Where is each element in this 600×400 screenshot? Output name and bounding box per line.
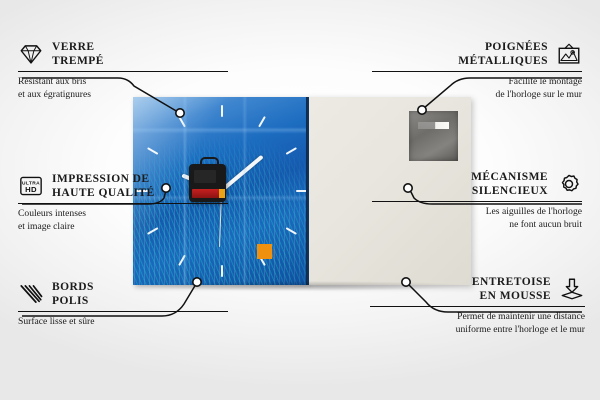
hour-tick <box>221 105 223 117</box>
infographic-canvas: VERRE TREMPÉ Résistant aux bris et aux é… <box>0 0 600 400</box>
feature-header: POIGNÉES MÉTALLIQUES <box>372 40 582 68</box>
feature-impression-haute-qualite: ultra HD IMPRESSION DE HAUTE QUALITÉ Cou… <box>18 172 228 233</box>
hour-tick <box>258 116 266 127</box>
feature-title: MÉCANISME SILENCIEUX <box>471 170 548 198</box>
feature-divider <box>372 71 582 72</box>
svg-text:HD: HD <box>25 185 37 194</box>
feature-bords-polis: BORDS POLIS Surface lisse et sûre <box>18 280 228 329</box>
feature-description: Les aiguilles de l'horloge ne font aucun… <box>372 206 582 231</box>
diamond-icon <box>18 42 44 66</box>
ultra-hd-icon: ultra HD <box>18 174 44 198</box>
feature-header: BORDS POLIS <box>18 280 228 308</box>
picture-hanger-icon <box>556 42 582 66</box>
feature-divider <box>18 311 228 312</box>
feature-divider <box>370 306 585 307</box>
feature-title: ENTRETOISE EN MOUSSE <box>472 275 551 303</box>
feature-header: MÉCANISME SILENCIEUX <box>372 170 582 198</box>
feature-description: Résistant aux bris et aux égratignures <box>18 76 228 101</box>
feature-title: POIGNÉES MÉTALLIQUES <box>458 40 548 68</box>
polished-edges-icon <box>18 282 44 306</box>
feature-title: IMPRESSION DE HAUTE QUALITÉ <box>52 172 155 200</box>
feature-description: Couleurs intenses et image claire <box>18 208 228 233</box>
feature-verre-trempe: VERRE TREMPÉ Résistant aux bris et aux é… <box>18 40 228 101</box>
feature-header: VERRE TREMPÉ <box>18 40 228 68</box>
feature-description: Facilite le montage de l'horloge sur le … <box>372 76 582 101</box>
feature-poignees-metalliques: POIGNÉES MÉTALLIQUES Facilite le montage… <box>372 40 582 101</box>
layer-arrow-icon <box>559 277 585 301</box>
feature-mecanisme-silencieux: MÉCANISME SILENCIEUX Les aiguilles de l'… <box>372 170 582 231</box>
hour-tick <box>178 255 186 266</box>
feature-header: ENTRETOISE EN MOUSSE <box>370 275 585 303</box>
hour-tick <box>286 227 297 235</box>
feature-header: ultra HD IMPRESSION DE HAUTE QUALITÉ <box>18 172 228 200</box>
feature-divider <box>18 203 228 204</box>
gear-icon <box>556 172 582 196</box>
hour-tick <box>178 116 186 127</box>
feature-description: Surface lisse et sûre <box>18 316 228 328</box>
handle-slot <box>418 122 449 129</box>
metal-handle <box>409 111 458 161</box>
feature-entretoise-en-mousse: ENTRETOISE EN MOUSSE Permet de maintenir… <box>370 275 585 336</box>
hour-tick <box>286 147 297 155</box>
hour-tick <box>147 147 158 155</box>
feature-divider <box>18 71 228 72</box>
feature-description: Permet de maintenir une distance uniform… <box>370 311 585 336</box>
feature-title: VERRE TREMPÉ <box>52 40 104 68</box>
mechanism-hanger <box>200 157 219 168</box>
hour-tick <box>221 265 223 277</box>
feature-divider <box>372 201 582 202</box>
foam-spacer <box>257 244 272 259</box>
feature-title: BORDS POLIS <box>52 280 94 308</box>
